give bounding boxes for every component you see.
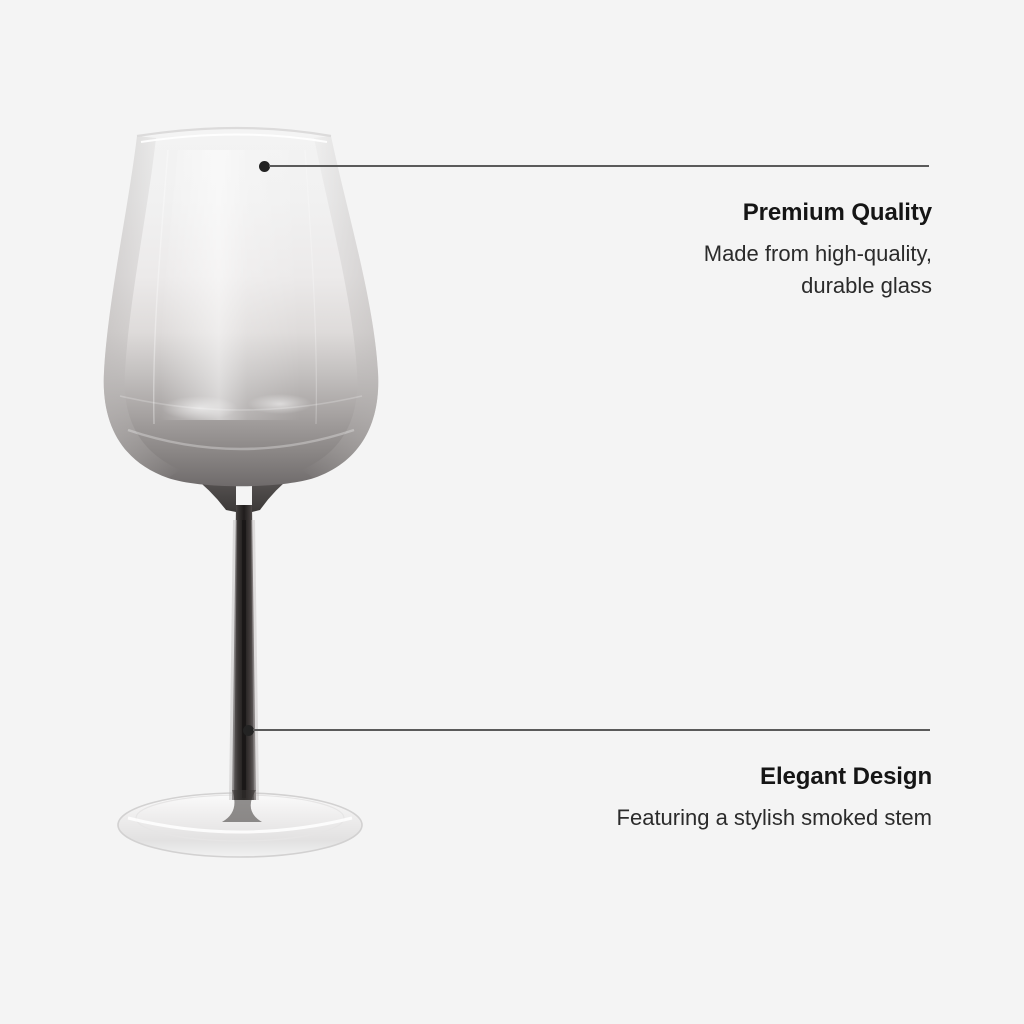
callout-heading-elegant-design: Elegant Design bbox=[472, 762, 932, 792]
callout-body-elegant-design: Featuring a stylish smoked stem bbox=[472, 802, 932, 834]
glass-bowl bbox=[104, 128, 379, 486]
product-image bbox=[0, 0, 520, 1024]
callout-body-premium-quality: Made from high-quality, durable glass bbox=[512, 238, 932, 302]
callout-elegant-design: Elegant Design Featuring a stylish smoke… bbox=[472, 762, 932, 834]
callout-leader-line-elegant-design bbox=[253, 729, 930, 731]
wine-glass-illustration bbox=[0, 0, 520, 1024]
callout-leader-line-premium-quality bbox=[269, 165, 929, 167]
callout-premium-quality: Premium Quality Made from high-quality, … bbox=[512, 198, 932, 302]
glass-stem bbox=[222, 505, 262, 822]
infographic-canvas: Premium Quality Made from high-quality, … bbox=[0, 0, 1024, 1024]
callout-heading-premium-quality: Premium Quality bbox=[512, 198, 932, 228]
